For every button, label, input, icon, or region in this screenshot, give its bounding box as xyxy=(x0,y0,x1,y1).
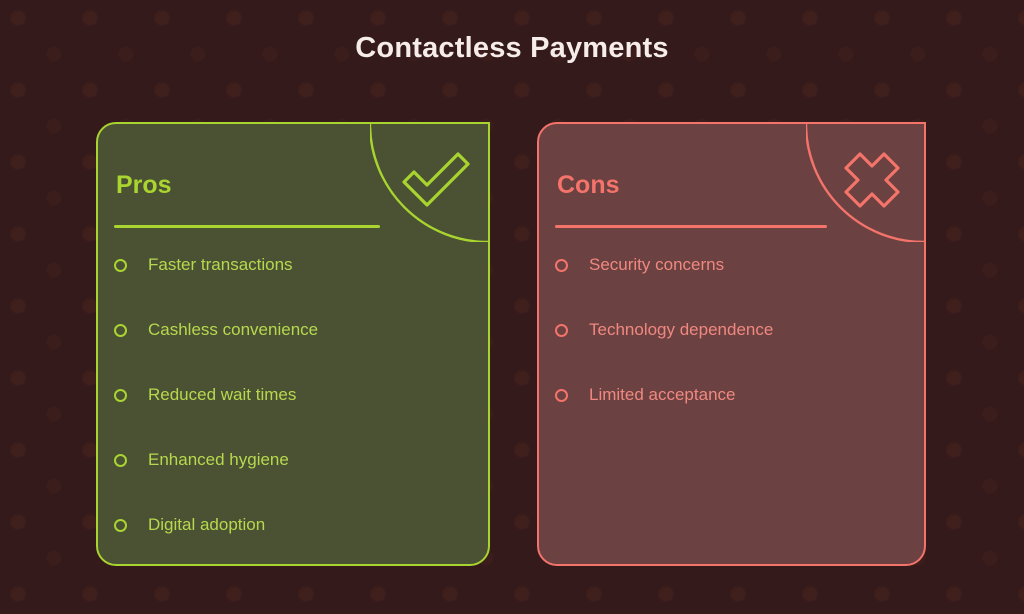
list-item-label: Digital adoption xyxy=(148,514,265,536)
list-item-label: Limited acceptance xyxy=(589,384,735,406)
bullet-circle-icon xyxy=(114,324,127,337)
pros-card: Pros Faster transactions Cashless conven… xyxy=(96,122,490,566)
cons-divider xyxy=(555,225,827,228)
list-item[interactable]: Cashless convenience xyxy=(114,315,476,345)
bullet-circle-icon xyxy=(555,389,568,402)
pros-divider xyxy=(114,225,380,228)
list-item[interactable]: Technology dependence xyxy=(555,315,912,345)
list-item-label: Reduced wait times xyxy=(148,384,296,406)
cons-list: Security concerns Technology dependence … xyxy=(555,250,912,445)
list-item[interactable]: Digital adoption xyxy=(114,510,476,540)
list-item-label: Security concerns xyxy=(589,254,724,276)
bullet-circle-icon xyxy=(555,324,568,337)
list-item[interactable]: Limited acceptance xyxy=(555,380,912,410)
bullet-circle-icon xyxy=(114,519,127,532)
page-title: Contactless Payments xyxy=(0,28,1024,68)
list-item[interactable]: Enhanced hygiene xyxy=(114,445,476,475)
pros-heading: Pros xyxy=(116,170,172,200)
list-item-label: Enhanced hygiene xyxy=(148,449,289,471)
cons-corner-arc xyxy=(806,122,926,242)
list-item-label: Technology dependence xyxy=(589,319,773,341)
cons-card: Cons Security concerns Technology depend… xyxy=(537,122,926,566)
bullet-circle-icon xyxy=(114,259,127,272)
cons-heading: Cons xyxy=(557,170,620,200)
bullet-circle-icon xyxy=(114,389,127,402)
list-item[interactable]: Reduced wait times xyxy=(114,380,476,410)
cross-icon xyxy=(834,142,910,218)
pros-corner-arc xyxy=(370,122,490,242)
pros-list: Faster transactions Cashless convenience… xyxy=(114,250,476,566)
list-item-label: Cashless convenience xyxy=(148,319,318,341)
slide-canvas: Contactless Payments Pros Faster transac… xyxy=(0,0,1024,614)
list-item[interactable]: Security concerns xyxy=(555,250,912,280)
list-item[interactable]: Faster transactions xyxy=(114,250,476,280)
bullet-circle-icon xyxy=(114,454,127,467)
list-item-label: Faster transactions xyxy=(148,254,293,276)
checkmark-icon xyxy=(398,142,474,218)
bullet-circle-icon xyxy=(555,259,568,272)
